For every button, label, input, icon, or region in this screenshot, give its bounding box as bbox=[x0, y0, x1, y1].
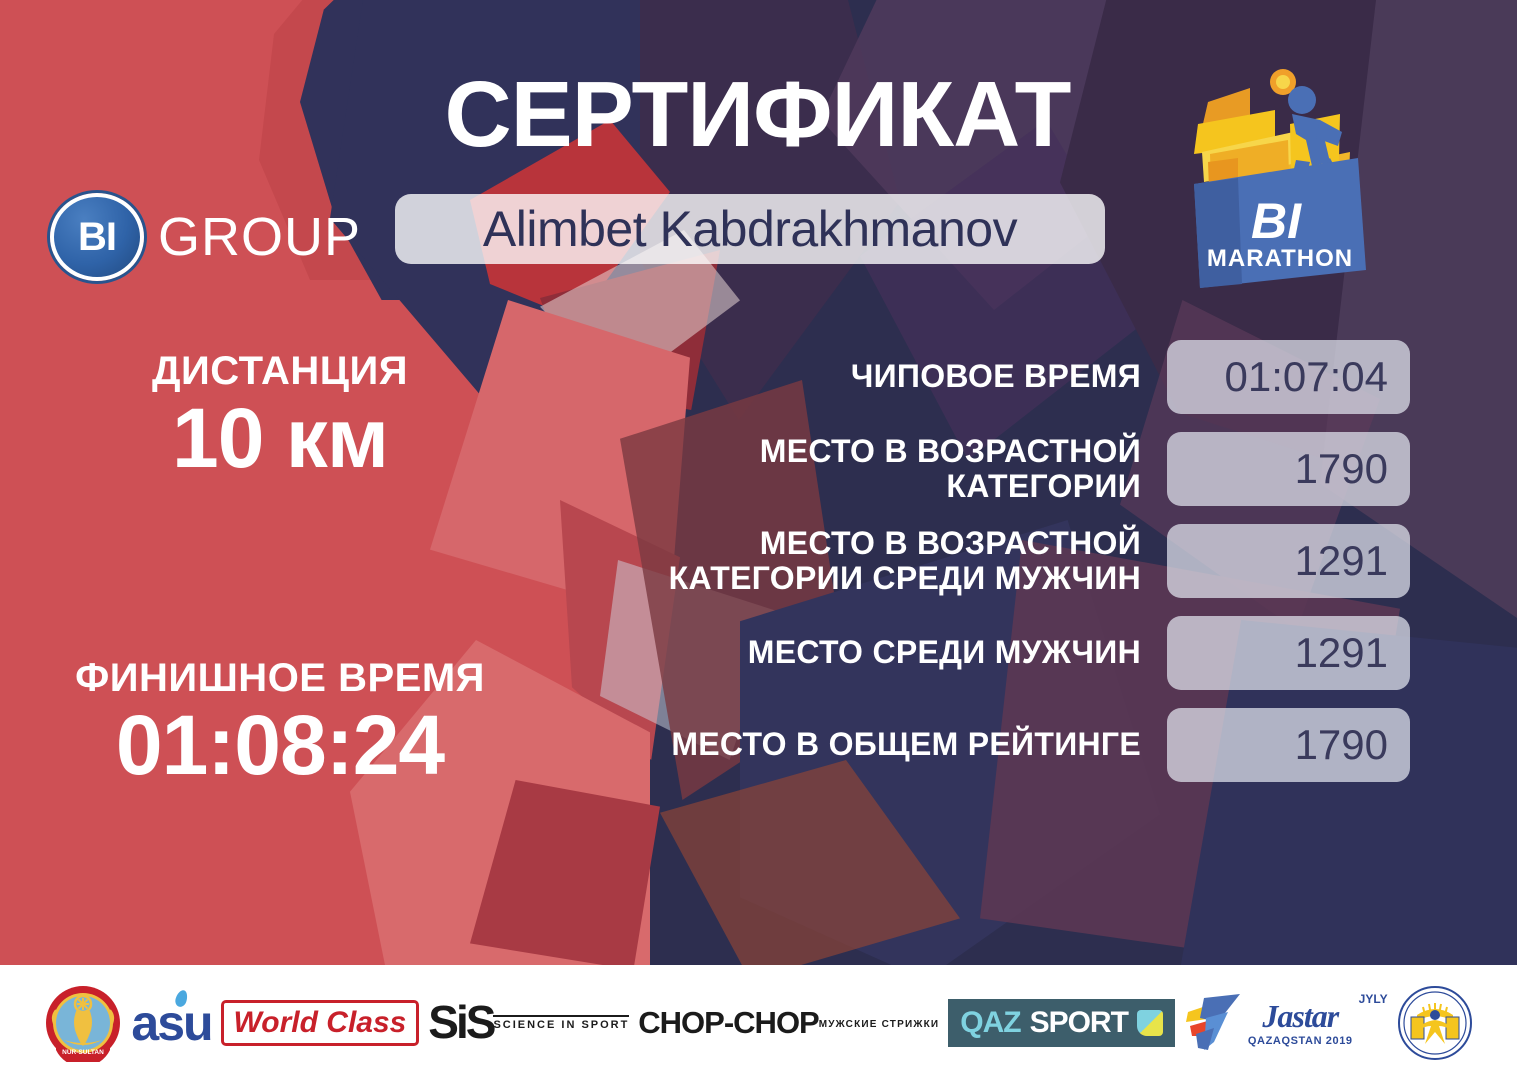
result-row-label: МЕСТО В ВОЗРАСТНОЙ КАТЕГОРИИ bbox=[600, 434, 1167, 504]
sponsor-sis: SiS SCIENCE IN SPORT bbox=[428, 1002, 629, 1043]
distance-block: ДИСТАНЦИЯ 10 км bbox=[20, 348, 540, 482]
sponsor-world-class: World Class bbox=[221, 1000, 420, 1046]
result-row-value-box: 1790 bbox=[1167, 432, 1410, 506]
distance-value: 10 км bbox=[20, 394, 540, 482]
bi-mark-icon: BI bbox=[50, 193, 144, 281]
sponsor-asu: asu bbox=[131, 994, 211, 1052]
result-row-value-box: 1291 bbox=[1167, 524, 1410, 598]
jastar-bird-icon bbox=[1184, 992, 1242, 1054]
certificate-canvas: BI GROUP СЕРТИФИКАТ Alimbet Kabdrakhmano… bbox=[0, 0, 1517, 1080]
page-title: СЕРТИФИКАТ bbox=[395, 68, 1120, 161]
result-row-value-box: 1291 bbox=[1167, 616, 1410, 690]
result-row-value-box: 01:07:04 bbox=[1167, 340, 1410, 414]
jastar-jyly-label: JYLY bbox=[1359, 992, 1388, 1006]
results-list: ЧИПОВОЕ ВРЕМЯ 01:07:04 МЕСТО В ВОЗРАСТНО… bbox=[600, 340, 1410, 800]
sis-label: SiS bbox=[428, 1002, 493, 1043]
sponsor-chop-chop: CHOP-CHOP МУЖСКИЕ СТРИЖКИ bbox=[638, 1005, 939, 1041]
participant-name-badge: Alimbet Kabdrakhmanov bbox=[395, 194, 1105, 264]
result-row-label: МЕСТО В ОБЩЕМ РЕЙТИНГЕ bbox=[600, 727, 1167, 762]
world-class-label: World Class bbox=[221, 1000, 420, 1046]
distance-label: ДИСТАНЦИЯ bbox=[20, 348, 540, 394]
result-row-value: 01:07:04 bbox=[1225, 353, 1389, 401]
bi-marathon-logo: BI MARATHON bbox=[1180, 62, 1385, 302]
chop-chop-sublabel: МУЖСКИЕ СТРИЖКИ bbox=[819, 1019, 940, 1030]
result-row-label: ЧИПОВОЕ ВРЕМЯ bbox=[600, 359, 1167, 394]
result-row: ЧИПОВОЕ ВРЕМЯ 01:07:04 bbox=[600, 340, 1410, 414]
bi-group-label: GROUP bbox=[158, 206, 361, 268]
result-row-value: 1291 bbox=[1295, 629, 1388, 677]
finish-time-label: ФИНИШНОЕ ВРЕМЯ bbox=[20, 655, 540, 701]
sponsor-qazsport: QAZ SPORT bbox=[948, 999, 1175, 1047]
bi-group-logo: BI GROUP bbox=[50, 193, 361, 281]
result-row-label: МЕСТО В ВОЗРАСТНОЙ КАТЕГОРИИ СРЕДИ МУЖЧИ… bbox=[600, 526, 1167, 596]
marathon-bi-text: BI bbox=[1251, 193, 1302, 249]
finish-time-block: ФИНИШНОЕ ВРЕМЯ 01:08:24 bbox=[20, 655, 540, 789]
jastar-sublabel: QAZAQSTAN 2019 bbox=[1248, 1035, 1353, 1047]
result-row-value: 1790 bbox=[1295, 721, 1388, 769]
result-row-label: МЕСТО СРЕДИ МУЖЧИН bbox=[600, 635, 1167, 670]
nur-sultan-emblem-icon: NUR-SULTAN bbox=[44, 984, 122, 1062]
participant-name: Alimbet Kabdrakhmanov bbox=[483, 200, 1017, 258]
nur-sultan-emblem-label: NUR-SULTAN bbox=[63, 1049, 105, 1056]
result-row: МЕСТО В ВОЗРАСТНОЙ КАТЕГОРИИ 1790 bbox=[600, 432, 1410, 506]
result-row: МЕСТО В ОБЩЕМ РЕЙТИНГЕ 1790 bbox=[600, 708, 1410, 782]
chop-chop-label: CHOP-CHOP bbox=[638, 1005, 818, 1041]
qazsport-mark-icon bbox=[1137, 1010, 1163, 1036]
marathon-word-text: MARATHON bbox=[1207, 245, 1353, 272]
finish-time-value: 01:08:24 bbox=[20, 701, 540, 789]
jastar-text: Jastar QAZAQSTAN 2019 bbox=[1248, 998, 1353, 1047]
sis-sublabel: SCIENCE IN SPORT bbox=[493, 1015, 629, 1031]
qazsport-label-b: SPORT bbox=[1030, 1006, 1128, 1040]
result-row: МЕСТО СРЕДИ МУЖЧИН 1291 bbox=[600, 616, 1410, 690]
asu-label: asu bbox=[131, 994, 211, 1052]
result-row-value: 1790 bbox=[1295, 445, 1388, 493]
qazsport-label-a: QAZ bbox=[960, 1006, 1020, 1040]
result-row-value-box: 1790 bbox=[1167, 708, 1410, 782]
ministry-emblem-icon bbox=[1397, 985, 1473, 1061]
sponsor-strip: NUR-SULTAN asu World Class SiS SCIENCE I… bbox=[0, 965, 1517, 1080]
result-row: МЕСТО В ВОЗРАСТНОЙ КАТЕГОРИИ СРЕДИ МУЖЧИ… bbox=[600, 524, 1410, 598]
result-row-value: 1291 bbox=[1295, 537, 1388, 585]
sponsor-nur-sultan-emblem: NUR-SULTAN bbox=[44, 984, 122, 1062]
bi-marathon-logo-icon: BI MARATHON bbox=[1180, 62, 1385, 302]
sponsor-jastar: Jastar QAZAQSTAN 2019 JYLY bbox=[1184, 992, 1388, 1054]
jastar-label: Jastar bbox=[1248, 998, 1353, 1035]
sponsor-ministry-emblem bbox=[1397, 985, 1473, 1061]
bi-mark-label: BI bbox=[78, 215, 116, 260]
